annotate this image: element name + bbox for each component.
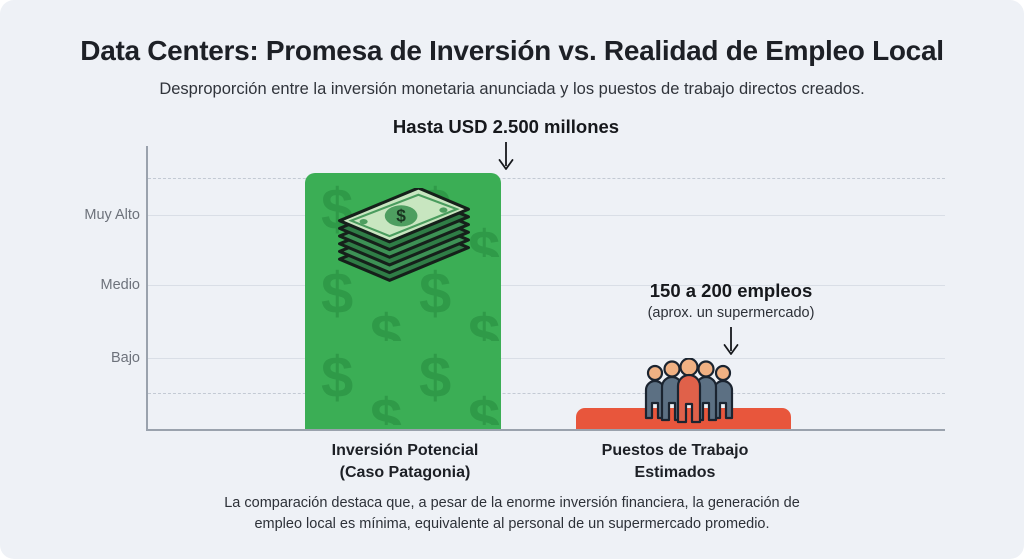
- infographic-root: Data Centers: Promesa de Inversión vs. R…: [0, 0, 1024, 559]
- down-arrow-icon: [721, 327, 741, 357]
- x-axis-line: [146, 429, 945, 431]
- y-tick-muy-alto: Muy Alto: [20, 207, 140, 223]
- gridline-dashed-top: [148, 178, 945, 179]
- footer-caption-line1: La comparación destaca que, a pesar de l…: [150, 493, 874, 514]
- gridline-dashed-bottom: [148, 393, 945, 394]
- plot-area: $ $ $: [146, 146, 945, 431]
- page-title: Data Centers: Promesa de Inversión vs. R…: [0, 34, 1024, 68]
- people-group-icon: [643, 358, 735, 424]
- page-subtitle: Desproporción entre la inversión monetar…: [0, 80, 1024, 100]
- y-tick-medio: Medio: [20, 277, 140, 293]
- svg-text:$: $: [396, 206, 406, 226]
- footer-caption-line2: empleo local es mínima, equivalente al p…: [150, 514, 874, 535]
- annotation-jobs-sublabel: (aprox. un supermercado): [581, 305, 881, 322]
- gridline-muy-alto: [148, 215, 945, 216]
- category-label-jobs: Puestos de Trabajo Estimados: [495, 440, 855, 483]
- down-arrow-icon: [496, 142, 516, 172]
- annotation-investment: Hasta USD 2.500 millones: [356, 116, 656, 177]
- y-axis-line: [146, 146, 148, 431]
- footer-caption: La comparación destaca que, a pesar de l…: [150, 493, 874, 535]
- annotation-investment-label: Hasta USD 2.500 millones: [356, 116, 656, 138]
- category-label-jobs-line2: Estimados: [495, 462, 855, 484]
- money-stack-icon: $: [331, 188, 477, 288]
- y-tick-bajo: Bajo: [20, 350, 140, 366]
- annotation-jobs-label: 150 a 200 empleos: [581, 280, 881, 302]
- header: Data Centers: Promesa de Inversión vs. R…: [0, 34, 1024, 99]
- annotation-jobs: 150 a 200 empleos (aprox. un supermercad…: [581, 280, 881, 362]
- category-label-jobs-line1: Puestos de Trabajo: [495, 440, 855, 462]
